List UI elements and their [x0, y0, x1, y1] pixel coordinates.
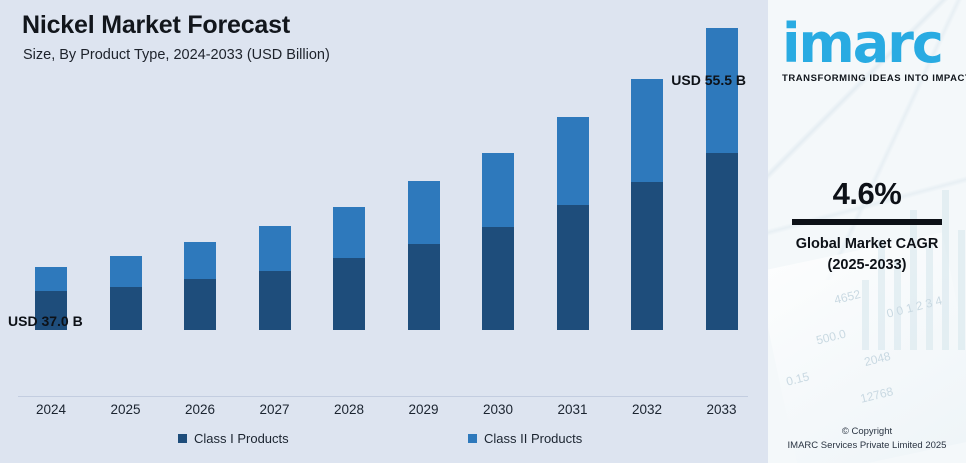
copyright-notice: © Copyright IMARC Services Private Limit…: [768, 425, 966, 454]
bar-segment-class-ii-2024[interactable]: [35, 267, 67, 291]
last-bar-value-label: USD 55.5 B: [671, 72, 746, 88]
x-tick-2033: 2033: [692, 402, 752, 417]
bar-segment-class-ii-2028[interactable]: [333, 207, 365, 258]
bar-segment-class-i-2031[interactable]: [557, 205, 589, 330]
first-bar-value-label: USD 37.0 B: [8, 313, 83, 329]
bar-2030[interactable]: [482, 153, 514, 330]
bar-segment-class-ii-2029[interactable]: [408, 181, 440, 244]
bar-chart-plot-area: 2024202520262027202820292030203120322033…: [0, 0, 768, 397]
bar-segment-class-ii-2030[interactable]: [482, 153, 514, 227]
x-tick-2032: 2032: [617, 402, 677, 417]
bar-segment-class-i-2025[interactable]: [110, 287, 142, 330]
imarc-logo: imarc TRANSFORMING IDEAS INTO IMPACT: [782, 18, 962, 84]
bar-2027[interactable]: [259, 226, 291, 330]
bar-segment-class-i-2030[interactable]: [482, 227, 514, 330]
legend-item-class-i[interactable]: Class I Products: [178, 431, 289, 446]
bar-segment-class-ii-2027[interactable]: [259, 226, 291, 271]
chart-panel: Nickel Market Forecast Size, By Product …: [0, 0, 768, 463]
legend-label: Class I Products: [194, 431, 289, 446]
artwork-number: 12768: [859, 384, 895, 406]
cagr-value: 4.6%: [768, 176, 966, 212]
bar-2029[interactable]: [408, 181, 440, 330]
x-tick-2030: 2030: [468, 402, 528, 417]
brand-panel: 500.00.15127680 0 1 2 3 446522048 imarc …: [768, 0, 966, 463]
infographic-root: Nickel Market Forecast Size, By Product …: [0, 0, 966, 463]
copyright-line-1: © Copyright: [768, 425, 966, 439]
bar-2025[interactable]: [110, 256, 142, 330]
imarc-logo-tagline: TRANSFORMING IDEAS INTO IMPACT: [782, 73, 962, 84]
x-tick-2024: 2024: [21, 402, 81, 417]
legend-swatch-icon: [468, 434, 477, 443]
x-tick-2029: 2029: [394, 402, 454, 417]
x-tick-2025: 2025: [96, 402, 156, 417]
bar-segment-class-ii-2026[interactable]: [184, 242, 216, 279]
x-tick-2026: 2026: [170, 402, 230, 417]
bar-segment-class-ii-2031[interactable]: [557, 117, 589, 205]
cagr-callout: 4.6% Global Market CAGR (2025-2033): [768, 176, 966, 276]
artwork-number: 2048: [863, 349, 892, 369]
bar-segment-class-i-2032[interactable]: [631, 182, 663, 330]
artwork-number: 0 0 1 2 3 4: [885, 293, 943, 320]
artwork-number: 4652: [833, 287, 862, 307]
bar-segment-class-i-2029[interactable]: [408, 244, 440, 330]
cagr-label: Global Market CAGR: [768, 234, 966, 255]
artwork-number: 0.15: [785, 369, 811, 388]
bar-segment-class-i-2026[interactable]: [184, 279, 216, 330]
bar-2031[interactable]: [557, 117, 589, 330]
x-tick-2027: 2027: [245, 402, 305, 417]
copyright-line-2: IMARC Services Private Limited 2025: [768, 439, 966, 453]
bar-segment-class-ii-2025[interactable]: [110, 256, 142, 287]
x-tick-2028: 2028: [319, 402, 379, 417]
cagr-divider: [792, 219, 942, 225]
bar-2032[interactable]: [631, 79, 663, 330]
bar-segment-class-i-2028[interactable]: [333, 258, 365, 330]
legend-item-class-ii[interactable]: Class II Products: [468, 431, 582, 446]
cagr-period: (2025-2033): [768, 255, 966, 276]
legend-swatch-icon: [178, 434, 187, 443]
x-tick-2031: 2031: [543, 402, 603, 417]
imarc-logo-wordmark: imarc: [782, 18, 962, 69]
x-axis-line: [18, 396, 748, 397]
bar-segment-class-ii-2032[interactable]: [631, 79, 663, 182]
bar-segment-class-i-2033[interactable]: [706, 153, 738, 330]
bar-2026[interactable]: [184, 242, 216, 330]
bar-segment-class-ii-2033[interactable]: [706, 28, 738, 153]
chart-legend: Class I ProductsClass II Products: [0, 431, 768, 453]
bar-segment-class-i-2027[interactable]: [259, 271, 291, 330]
legend-label: Class II Products: [484, 431, 582, 446]
artwork-number: 500.0: [815, 327, 848, 348]
bar-2028[interactable]: [333, 207, 365, 330]
